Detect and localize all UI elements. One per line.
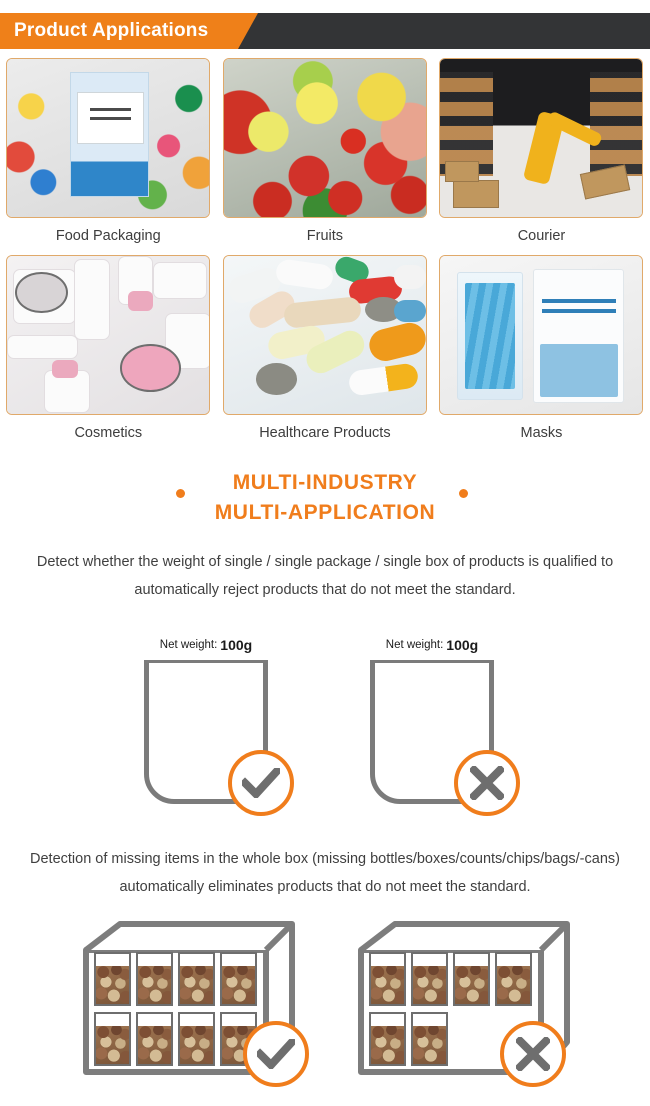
application-row-2: Cosmetics [0, 255, 650, 452]
pill [256, 363, 296, 395]
net-weight-prefix: Net weight: [386, 639, 444, 651]
jar [411, 952, 448, 1006]
mask-pack-info-panel [540, 344, 618, 397]
pill [275, 259, 335, 292]
cross-mark-icon [500, 1021, 566, 1087]
multi-industry-heading: MULTI-INDUSTRY MULTI-APPLICATION [0, 468, 650, 528]
jar [94, 1012, 131, 1066]
bag-empty-gap [375, 665, 489, 707]
mask-pack-loose [457, 272, 524, 400]
weight-detection-paragraph: Detect whether the weight of single / si… [25, 548, 625, 604]
jar-row [94, 1012, 260, 1066]
missing-items-paragraph: Detection of missing items in the whole … [25, 845, 625, 901]
cosmetic-cap [52, 360, 78, 377]
carton-box [580, 165, 631, 200]
pill [366, 319, 427, 363]
jar [411, 1012, 448, 1066]
application-card-courier[interactable]: Courier [433, 58, 650, 255]
mask-pack-sealed [533, 269, 624, 404]
application-label: Cosmetics [74, 415, 142, 452]
cosmetic-tube [7, 335, 78, 359]
net-weight-label: Net weight: 100g [144, 629, 268, 663]
gift-box-label [77, 92, 143, 143]
net-weight-prefix: Net weight: [160, 639, 218, 651]
page-header-banner: Product Applications [0, 13, 650, 49]
healthcare-thumbnail [223, 255, 427, 415]
masks-thumbnail [439, 255, 643, 415]
pill [394, 300, 426, 322]
heading-line-2: MULTI-APPLICATION [0, 498, 650, 528]
net-weight-label: Net weight: 100g [370, 629, 494, 663]
application-row-1: Food Packaging Fruits Courier [0, 58, 650, 255]
gift-box-shape [70, 72, 149, 197]
application-card-healthcare[interactable]: Healthcare Products [217, 255, 434, 452]
fruits-photo [224, 59, 426, 217]
fruits-thumbnail [223, 58, 427, 218]
heading-dot-left-icon [176, 489, 185, 498]
jar-grid [94, 952, 260, 1066]
carton-box [445, 161, 479, 182]
cosmetic-jar [15, 272, 68, 313]
food-packaging-photo [7, 59, 209, 217]
jar [369, 952, 406, 1006]
jar [136, 1012, 173, 1066]
jar [178, 1012, 215, 1066]
net-weight-value: 100g [446, 637, 478, 653]
application-label: Food Packaging [56, 218, 161, 255]
courier-thumbnail [439, 58, 643, 218]
jar [495, 952, 532, 1006]
application-label: Healthcare Products [259, 415, 390, 452]
pill [394, 265, 426, 289]
cosmetic-jar [120, 344, 181, 391]
page-title: Product Applications [14, 13, 208, 49]
pill [283, 296, 362, 329]
surgical-masks-photo [440, 256, 642, 414]
application-label: Courier [518, 218, 566, 255]
warehouse-rack-right [590, 72, 643, 176]
jar [453, 952, 490, 1006]
application-card-fruits[interactable]: Fruits [217, 58, 434, 255]
jar [220, 952, 257, 1006]
application-grid: Food Packaging Fruits Courier [0, 58, 650, 452]
courier-warehouse-photo [440, 59, 642, 217]
carton-box [453, 180, 499, 207]
jar [178, 952, 215, 1006]
cosmetics-photo [7, 256, 209, 414]
cosmetic-tube [74, 259, 110, 340]
cross-mark-icon [454, 750, 520, 816]
jar [369, 1012, 406, 1066]
application-card-masks[interactable]: Masks [433, 255, 650, 452]
jar [136, 952, 173, 1006]
jar-row [369, 952, 535, 1006]
cosmetic-tube [153, 262, 208, 299]
cosmetic-cap [128, 291, 152, 312]
heading-dot-right-icon [459, 489, 468, 498]
jar [94, 952, 131, 1006]
net-weight-value: 100g [220, 637, 252, 653]
application-label: Masks [521, 415, 563, 452]
application-label: Fruits [307, 218, 343, 255]
food-packaging-thumbnail [6, 58, 210, 218]
warehouse-rack-left [440, 72, 493, 176]
heading-line-1: MULTI-INDUSTRY [0, 468, 650, 498]
check-mark-icon [228, 750, 294, 816]
healthcare-pills-photo [224, 256, 426, 414]
pill [348, 362, 420, 397]
application-card-food-packaging[interactable]: Food Packaging [0, 58, 217, 255]
jar-row [94, 952, 260, 1006]
application-card-cosmetics[interactable]: Cosmetics [0, 255, 217, 452]
check-mark-icon [243, 1021, 309, 1087]
cosmetics-thumbnail [6, 255, 210, 415]
